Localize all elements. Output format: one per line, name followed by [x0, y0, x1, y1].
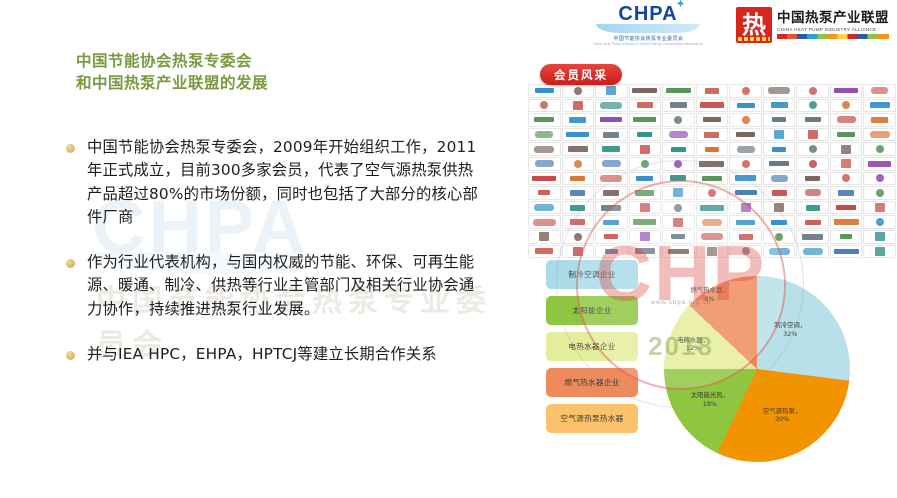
- bullet-marker-icon: [66, 259, 75, 268]
- member-logo-mark: [703, 117, 721, 122]
- star-icon: ✦: [676, 0, 685, 10]
- member-logo-mark: [737, 146, 755, 153]
- member-logo-mark: [669, 131, 688, 138]
- member-logo-mark: [700, 102, 724, 108]
- member-logo-mark: [871, 87, 888, 94]
- member-logo: [696, 201, 729, 215]
- member-logo: [796, 172, 829, 186]
- member-logo-mark: [772, 117, 786, 122]
- member-logo-mark: [842, 174, 850, 182]
- member-logo: [696, 172, 729, 186]
- chart-legend: 制冷空调企业太阳能企业电热水器企业燃气热水器企业空气源热泵热水器: [546, 260, 638, 440]
- pie-slice-name: 空气源热泵，: [752, 407, 812, 416]
- member-logo: [830, 142, 863, 156]
- pie-slice-label-3: 电热水器，12%: [663, 336, 723, 353]
- member-logo-mark: [600, 117, 622, 122]
- member-logo: [562, 99, 595, 113]
- member-logo: [830, 99, 863, 113]
- member-logo: [595, 201, 628, 215]
- member-logo-mark: [802, 234, 823, 240]
- member-logo: [696, 128, 729, 142]
- pie-slice-name: 制冷空调，: [760, 321, 820, 330]
- list-item: 并与IEA HPC，EHPA，HPTCJ等建立长期合作关系: [66, 343, 506, 366]
- member-logo-grid: [528, 84, 896, 252]
- chpa-subtitle-en: China Heat Pump Alliance of China Energy…: [593, 42, 703, 46]
- member-showcase-panel: 会员风采 制冷空调企业太阳能企业电热水器企业燃气热水器企业空气源热泵热水器 制冷…: [524, 56, 896, 492]
- member-logo-mark: [708, 189, 716, 197]
- member-logo: [629, 113, 662, 127]
- header-logo-bar: CHPA ✦ 中国节能协会热泵专业委员会 China Heat Pump All…: [0, 0, 897, 48]
- member-logo: [662, 186, 695, 200]
- page-title-line2: 和中国热泵产业联盟的发展: [76, 72, 436, 94]
- member-logo: [562, 230, 595, 244]
- member-logo: [662, 113, 695, 127]
- member-logo-mark: [569, 117, 586, 123]
- member-logo-mark: [876, 145, 884, 153]
- member-logo: [528, 230, 561, 244]
- member-logo-mark: [674, 160, 682, 168]
- member-logo: [863, 113, 896, 127]
- member-logo: [763, 142, 796, 156]
- member-logo: [729, 84, 762, 98]
- chpa-wordmark-text: CHPA: [618, 3, 677, 25]
- member-logo-mark: [875, 203, 885, 212]
- member-logo: [562, 215, 595, 229]
- member-logo-mark: [772, 190, 787, 196]
- member-logo: [796, 201, 829, 215]
- member-logo-mark: [637, 102, 653, 108]
- member-logo-mark: [739, 234, 753, 240]
- member-logo: [763, 113, 796, 127]
- member-logo-mark: [602, 146, 620, 152]
- list-item: 中国节能协会热泵专委会，2009年开始组织工作，2011年正式成立，目前300多…: [66, 136, 506, 229]
- member-logo: [763, 99, 796, 113]
- member-logo-mark: [533, 219, 556, 226]
- member-logo-mark: [871, 117, 888, 123]
- member-logo-mark: [540, 101, 548, 109]
- member-logo: [763, 215, 796, 229]
- member-logo-mark: [640, 232, 650, 241]
- legend-item-label: 空气源热泵热水器: [560, 413, 623, 424]
- member-logo: [863, 201, 896, 215]
- member-logo: [662, 215, 695, 229]
- member-logo-mark: [640, 203, 650, 212]
- member-logo-mark: [570, 190, 585, 196]
- bullet-list: 中国节能协会热泵专委会，2009年开始组织工作，2011年正式成立，目前300多…: [66, 136, 506, 388]
- member-logo: [863, 230, 896, 244]
- legend-item-2: 电热水器企业: [546, 332, 638, 361]
- member-logo-mark: [637, 132, 652, 137]
- member-logo-mark: [705, 88, 719, 94]
- alliance-mark-glyph: 热: [742, 13, 766, 37]
- member-logo: [562, 201, 595, 215]
- member-logo: [595, 215, 628, 229]
- member-logo-mark: [768, 87, 790, 94]
- member-logo-mark: [603, 220, 619, 225]
- member-logo: [830, 201, 863, 215]
- alliance-name-cn: 中国热泵产业联盟: [777, 11, 889, 25]
- member-logo-mark: [700, 205, 724, 211]
- member-logo-mark: [870, 131, 890, 138]
- member-logo: [796, 230, 829, 244]
- member-logo: [528, 172, 561, 186]
- member-logo: [562, 113, 595, 127]
- member-logo-mark: [736, 220, 755, 225]
- pie-chart: [664, 276, 850, 462]
- chpa-swoosh-icon: [596, 24, 700, 33]
- member-logo-mark: [868, 161, 891, 167]
- member-logo: [562, 186, 595, 200]
- member-logo: [629, 99, 662, 113]
- member-logo: [562, 128, 595, 142]
- member-logo: [729, 99, 762, 113]
- member-logo: [528, 186, 561, 200]
- member-logo-mark: [601, 205, 621, 211]
- member-logo: [729, 201, 762, 215]
- member-logo-mark: [836, 205, 856, 210]
- member-logo-mark: [736, 132, 755, 137]
- pie-slice-label-1: 空气源热泵，30%: [752, 407, 812, 424]
- member-logo-mark: [837, 116, 856, 123]
- member-logo: [830, 230, 863, 244]
- member-logo-mark: [842, 101, 850, 109]
- member-logo-mark: [674, 204, 682, 212]
- member-logo-mark: [809, 160, 817, 168]
- member-logo: [830, 172, 863, 186]
- member-logo-mark: [774, 203, 784, 212]
- member-logo-mark: [671, 234, 685, 239]
- member-logo-mark: [604, 234, 618, 239]
- member-logo-mark: [834, 88, 858, 93]
- member-logo: [830, 215, 863, 229]
- member-logo-mark: [640, 145, 650, 154]
- member-logo: [528, 84, 561, 98]
- alliance-text: 中国热泵产业联盟 CHINA HEAT PUMP INDUSTRY ALLIAN…: [777, 11, 889, 39]
- pie-slice-name: 电热水器，: [663, 336, 723, 345]
- member-logo-mark: [742, 87, 750, 95]
- member-logo-mark: [538, 190, 550, 195]
- member-logo: [662, 201, 695, 215]
- member-logo-mark: [674, 116, 682, 124]
- member-logo-mark: [534, 117, 554, 122]
- alliance-mark-icon: 热: [736, 7, 772, 43]
- member-logo-mark: [735, 175, 756, 181]
- member-logo: [562, 142, 595, 156]
- page-title: 中国节能协会热泵专委会 和中国热泵产业联盟的发展: [76, 50, 436, 95]
- member-logo: [830, 186, 863, 200]
- member-logo: [595, 230, 628, 244]
- member-logo-mark: [673, 218, 683, 227]
- member-logo: [696, 186, 729, 200]
- member-logo: [763, 128, 796, 142]
- bullet-text: 中国节能协会热泵专委会，2009年开始组织工作，2011年正式成立，目前300多…: [87, 136, 487, 229]
- pie-slice-label-2: 太阳能光热，18%: [680, 391, 740, 408]
- member-logo: [662, 84, 695, 98]
- member-logo: [729, 142, 762, 156]
- member-logo: [528, 99, 561, 113]
- member-logo: [863, 128, 896, 142]
- pie-slice-label-4: 燃气热水器，8%: [680, 286, 740, 303]
- member-logo: [662, 99, 695, 113]
- page-title-line1: 中国节能协会热泵专委会: [76, 50, 436, 72]
- chpa-logo: CHPA ✦ 中国节能协会热泵专业委员会 China Heat Pump All…: [588, 4, 708, 46]
- member-logo-mark: [573, 101, 583, 110]
- alliance-name-en: CHINA HEAT PUMP INDUSTRY ALLIANCE: [777, 27, 889, 32]
- member-logo-mark: [805, 117, 821, 122]
- member-logo: [729, 186, 762, 200]
- member-logo-mark: [570, 219, 585, 225]
- chpa-subtitle-cn: 中国节能协会热泵专业委员会: [613, 35, 683, 42]
- member-logo-mark: [771, 102, 788, 108]
- member-logo-mark: [535, 88, 554, 93]
- member-logo-mark: [704, 132, 719, 138]
- pie-slice-value: 30%: [752, 415, 812, 424]
- member-logo: [696, 113, 729, 127]
- bullet-marker-icon: [66, 351, 75, 360]
- legend-item-label: 太阳能企业: [572, 305, 611, 316]
- member-logo-mark: [742, 116, 750, 124]
- pie-slice-value: 18%: [680, 400, 740, 409]
- member-logo-mark: [809, 145, 817, 153]
- member-logo: [629, 157, 662, 171]
- pie-chart-figure: 制冷空调企业太阳能企业电热水器企业燃气热水器企业空气源热泵热水器 制冷空调，32…: [528, 252, 896, 490]
- member-logo-mark: [606, 86, 616, 95]
- member-logo-mark: [568, 146, 588, 152]
- member-logo-mark: [602, 160, 621, 167]
- member-logo: [729, 113, 762, 127]
- member-logo: [562, 172, 595, 186]
- member-logo-mark: [769, 161, 789, 166]
- member-logo-mark: [876, 218, 884, 226]
- member-logo-mark: [742, 160, 750, 168]
- member-logo: [729, 157, 762, 171]
- member-logo-mark: [535, 131, 553, 138]
- member-logo: [796, 99, 829, 113]
- member-logo: [729, 215, 762, 229]
- legend-item-4: 空气源热泵热水器: [546, 404, 638, 433]
- member-logo-mark: [534, 146, 554, 153]
- member-logo-mark: [633, 219, 656, 225]
- member-logo: [595, 113, 628, 127]
- member-logo: [763, 157, 796, 171]
- member-logo-mark: [671, 147, 686, 152]
- member-logo-mark: [539, 232, 549, 241]
- member-logo: [796, 215, 829, 229]
- member-logo-mark: [771, 175, 788, 182]
- chpa-wordmark: CHPA ✦: [618, 4, 677, 24]
- member-logo-mark: [670, 175, 686, 181]
- member-logo-mark: [840, 234, 852, 239]
- legend-item-1: 太阳能企业: [546, 296, 638, 325]
- legend-item-label: 电热水器企业: [568, 341, 615, 352]
- member-logo-mark: [705, 147, 719, 152]
- member-logo-mark: [876, 189, 884, 197]
- member-logo: [863, 215, 896, 229]
- member-logo: [528, 142, 561, 156]
- pie-slice-value: 32%: [760, 330, 820, 339]
- member-logo: [696, 230, 729, 244]
- list-item: 作为行业代表机构，与国内权威的节能、环保、可再生能源、暖通、制冷、供热等行业主管…: [66, 251, 506, 321]
- member-logo: [796, 128, 829, 142]
- member-logo: [830, 84, 863, 98]
- legend-item-3: 燃气热水器企业: [546, 368, 638, 397]
- member-logo-mark: [837, 132, 855, 137]
- badge-label: 会员风采: [554, 67, 608, 83]
- member-logo: [796, 186, 829, 200]
- member-logo-mark: [805, 220, 821, 225]
- member-logo-mark: [574, 160, 582, 168]
- member-logo: [595, 172, 628, 186]
- member-logo-mark: [834, 219, 859, 225]
- member-logo: [696, 142, 729, 156]
- member-logo: [796, 84, 829, 98]
- member-logo-mark: [702, 219, 722, 226]
- member-logo-mark: [534, 204, 554, 211]
- member-logo-mark: [809, 87, 817, 95]
- member-logo-mark: [805, 176, 820, 181]
- member-logo-mark: [603, 190, 619, 196]
- member-logo: [662, 172, 695, 186]
- member-logo-mark: [702, 176, 722, 181]
- member-logo-mark: [775, 233, 783, 241]
- member-logo: [830, 157, 863, 171]
- member-logo: [696, 157, 729, 171]
- member-logo: [763, 84, 796, 98]
- pie-slice-name: 太阳能光热，: [680, 391, 740, 400]
- member-logo-mark: [699, 161, 724, 167]
- pie-slice-value: 12%: [663, 344, 723, 353]
- member-logo: [629, 186, 662, 200]
- member-logo-mark: [635, 190, 654, 196]
- member-logo-mark: [701, 233, 723, 240]
- member-logo: [729, 230, 762, 244]
- member-logo-mark: [875, 232, 885, 241]
- member-logo-mark: [876, 174, 884, 182]
- member-logo-mark: [774, 130, 784, 139]
- member-logo-mark: [574, 87, 582, 95]
- member-logo-mark: [841, 145, 851, 154]
- member-logo: [595, 142, 628, 156]
- member-logo-mark: [532, 176, 556, 181]
- member-logo-mark: [735, 190, 757, 195]
- member-logo: [863, 186, 896, 200]
- member-logo: [863, 142, 896, 156]
- member-logo: [662, 157, 695, 171]
- member-logo: [863, 84, 896, 98]
- member-logo-mark: [535, 160, 554, 167]
- member-logo-mark: [641, 160, 649, 168]
- member-logo: [763, 230, 796, 244]
- alliance-mark-dots: [738, 37, 770, 41]
- legend-item-label: 燃气热水器企业: [564, 377, 619, 388]
- member-logo: [528, 113, 561, 127]
- member-logo-mark: [673, 188, 683, 197]
- member-logo: [729, 128, 762, 142]
- member-logo: [595, 99, 628, 113]
- pie-slice-name: 燃气热水器，: [680, 286, 740, 295]
- member-logo: [562, 84, 595, 98]
- member-logo-mark: [633, 117, 656, 122]
- member-logo-mark: [805, 189, 821, 196]
- slide-canvas: CHPA ✦ 中国节能协会热泵专业委员会 China Heat Pump All…: [0, 0, 897, 498]
- member-logo: [863, 157, 896, 171]
- member-logo-mark: [838, 190, 854, 196]
- member-logo-mark: [666, 88, 691, 93]
- member-logo: [696, 215, 729, 229]
- legend-item-label: 制冷空调企业: [568, 269, 615, 280]
- member-logo: [629, 201, 662, 215]
- member-logo: [763, 172, 796, 186]
- member-logo-mark: [603, 132, 619, 138]
- member-logo-mark: [570, 205, 585, 211]
- member-logo: [863, 172, 896, 186]
- member-logo-mark: [636, 176, 653, 181]
- member-logo: [528, 128, 561, 142]
- pie-slice-value: 8%: [680, 295, 740, 304]
- member-logo: [863, 99, 896, 113]
- member-logo: [528, 201, 561, 215]
- member-logo-mark: [809, 101, 817, 109]
- member-logo: [629, 230, 662, 244]
- member-logo: [763, 186, 796, 200]
- member-logo-mark: [808, 130, 818, 139]
- member-logo-mark: [841, 159, 851, 168]
- member-logo-mark: [600, 102, 622, 109]
- bullet-text: 作为行业代表机构，与国内权威的节能、环保、可再生能源、暖通、制冷、供热等行业主管…: [87, 251, 485, 321]
- member-logo: [830, 113, 863, 127]
- status-badge: 会员风采: [540, 64, 622, 85]
- member-logo: [528, 157, 561, 171]
- member-logo: [629, 142, 662, 156]
- member-logo: [629, 172, 662, 186]
- member-logo: [763, 201, 796, 215]
- member-logo-mark: [741, 203, 751, 212]
- member-logo-mark: [566, 132, 589, 137]
- member-logo: [696, 99, 729, 113]
- member-logo: [562, 157, 595, 171]
- member-logo-mark: [670, 102, 687, 108]
- member-logo: [796, 113, 829, 127]
- member-logo-mark: [737, 103, 755, 108]
- member-logo: [595, 186, 628, 200]
- member-logo: [662, 230, 695, 244]
- member-logo: [595, 84, 628, 98]
- alliance-color-bar: [777, 34, 889, 39]
- member-logo: [629, 215, 662, 229]
- member-logo-mark: [771, 220, 787, 225]
- member-logo: [629, 128, 662, 142]
- member-logo: [595, 157, 628, 171]
- member-logo: [662, 142, 695, 156]
- legend-item-0: 制冷空调企业: [546, 260, 638, 289]
- member-logo-mark: [632, 88, 657, 93]
- member-logo: [662, 128, 695, 142]
- member-logo: [729, 172, 762, 186]
- member-logo: [629, 84, 662, 98]
- member-logo: [796, 142, 829, 156]
- member-logo: [796, 157, 829, 171]
- member-logo-mark: [772, 147, 786, 152]
- member-logo-mark: [600, 175, 622, 182]
- bullet-marker-icon: [66, 144, 75, 153]
- member-logo-mark: [806, 205, 820, 211]
- member-logo-mark: [570, 176, 585, 181]
- member-logo: [595, 128, 628, 142]
- member-logo-mark: [574, 233, 582, 241]
- member-logo: [696, 84, 729, 98]
- member-logo: [830, 128, 863, 142]
- alliance-logo: 热 中国热泵产业联盟 CHINA HEAT PUMP INDUSTRY ALLI…: [736, 6, 892, 44]
